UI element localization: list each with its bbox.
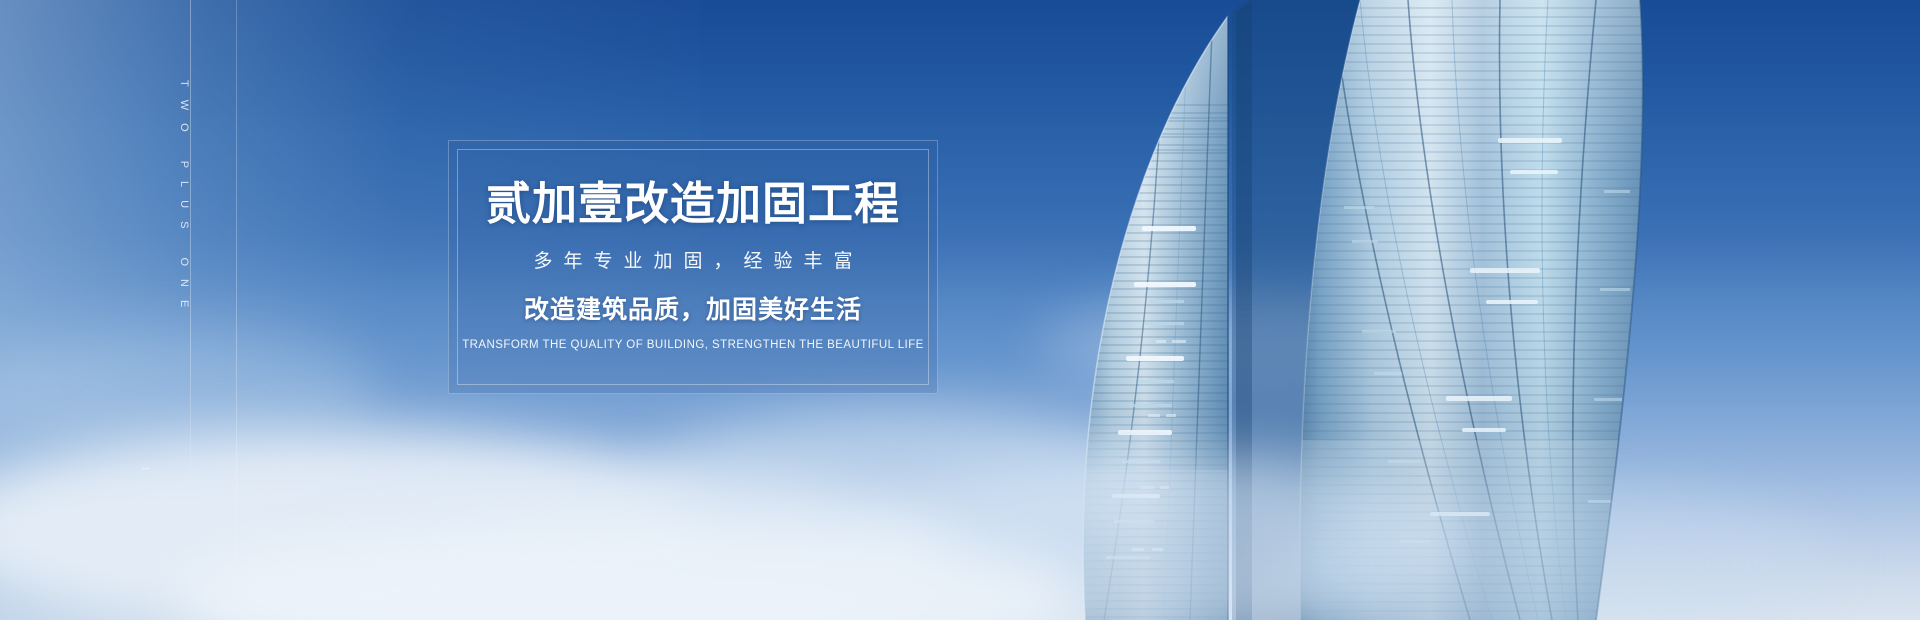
hero-slogan-cn: 改造建筑品质，加固美好生活 <box>449 295 937 325</box>
hero-headline: 贰加壹改造加固工程 <box>449 179 937 229</box>
side-mark-label: 1 <box>140 466 150 473</box>
hero-banner: TWO PLUS ONE 1 贰加壹改造加固工程 多年专业加固，经验丰富 改造建… <box>0 0 1920 620</box>
vertical-divider-outer <box>236 0 237 560</box>
cloud <box>1040 300 1460 390</box>
panel-content: 贰加壹改造加固工程 多年专业加固，经验丰富 改造建筑品质，加固美好生活 TRAN… <box>449 179 937 353</box>
cloud <box>0 430 700 620</box>
cloud <box>330 470 950 620</box>
cloud <box>1280 490 1840 620</box>
cloud <box>640 410 1160 570</box>
brand-vertical-text: TWO PLUS ONE <box>178 80 190 320</box>
hero-subtitle-cn: 多年专业加固，经验丰富 <box>449 251 937 274</box>
hero-text-panel: 贰加壹改造加固工程 多年专业加固，经验丰富 改造建筑品质，加固美好生活 TRAN… <box>448 140 938 394</box>
cloud <box>860 455 1460 620</box>
skyscraper-illustration <box>1000 0 1920 620</box>
cloud <box>180 520 1080 620</box>
hero-slogan-en: TRANSFORM THE QUALITY OF BUILDING, STREN… <box>449 339 937 353</box>
vertical-divider-inner <box>190 0 191 478</box>
sky-gradient-overlay <box>0 0 1920 300</box>
